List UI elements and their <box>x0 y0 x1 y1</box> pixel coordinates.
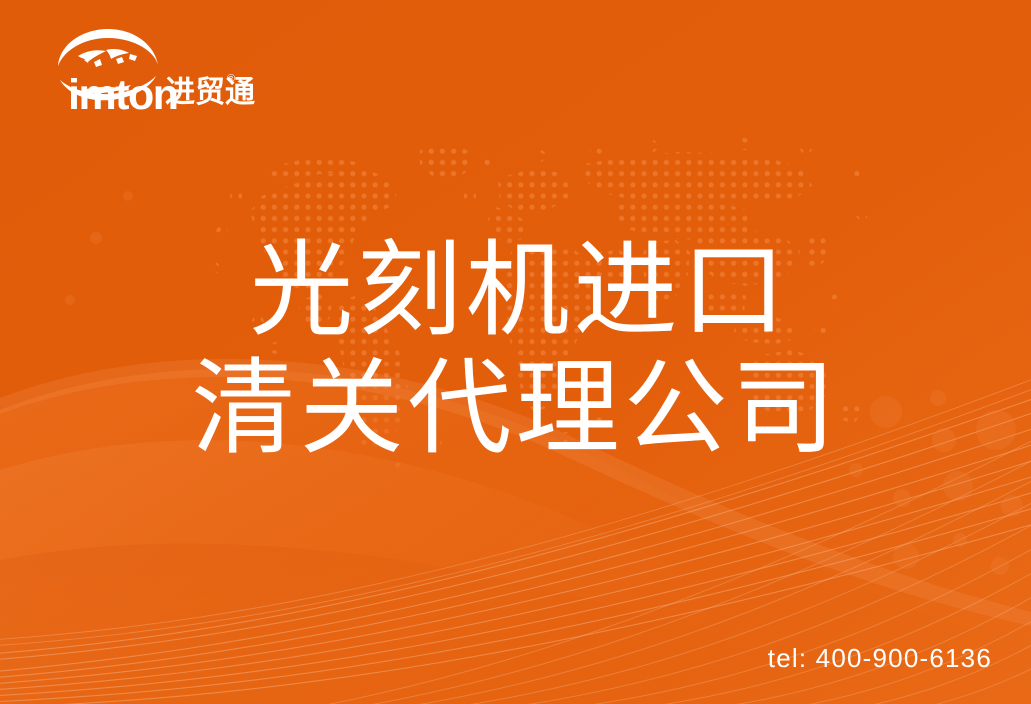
poster-canvas: imton 进贸通 ® 光刻机进口 清关代理公司 tel: 400-900-61… <box>0 0 1031 704</box>
page-title-line1: 光刻机进口 <box>0 232 1031 350</box>
registered-trademark-icon: ® <box>227 74 235 85</box>
contact-phone[interactable]: tel: 400-900-6136 <box>768 645 992 671</box>
page-title-line2: 清关代理公司 <box>0 350 1031 468</box>
logo-chinese-name: 进贸通 <box>165 78 255 108</box>
brand-logo[interactable]: imton 进贸通 ® <box>34 26 244 102</box>
logo-wordmark: imton <box>68 74 178 117</box>
page-title: 光刻机进口 清关代理公司 <box>0 232 1031 468</box>
